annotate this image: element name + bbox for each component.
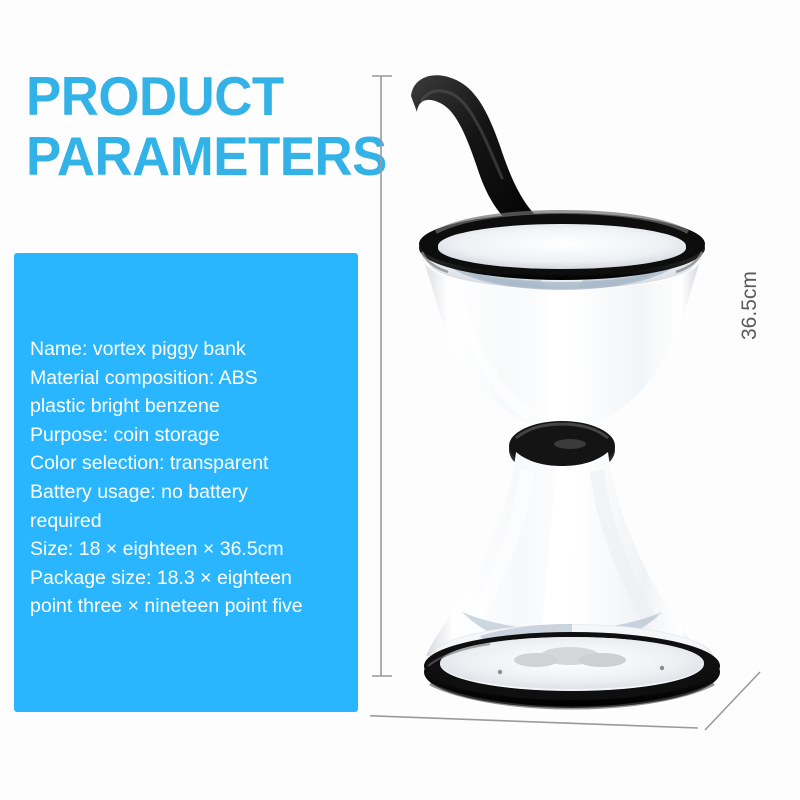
page-title-line-2: PARAMETERS: [26, 126, 352, 186]
top-rim: [419, 212, 705, 280]
product-parameters-page: PRODUCT PARAMETERS Name: vortex piggy ba…: [0, 0, 800, 800]
product-image: 36.5cm 18cm 18cm: [370, 0, 800, 800]
spec-line: Battery usage: no battery: [30, 478, 352, 507]
spec-panel: Name: vortex piggy bank Material composi…: [14, 253, 358, 712]
spec-line: Name: vortex piggy bank: [30, 335, 352, 364]
spec-line: plastic bright benzene: [30, 392, 352, 421]
spec-line: Package size: 18.3 × eighteen: [30, 564, 352, 593]
spec-line: Color selection: transparent: [30, 449, 352, 478]
spec-list: Name: vortex piggy bank Material composi…: [30, 335, 352, 621]
spec-line: required: [30, 507, 352, 536]
page-title: PRODUCT PARAMETERS: [26, 66, 366, 186]
spec-line: Purpose: coin storage: [30, 421, 352, 450]
spec-line: Size: 18 × eighteen × 36.5cm: [30, 535, 352, 564]
vortex-piggy-bank-illustration: [370, 0, 800, 800]
dimension-height-label: 36.5cm: [738, 271, 762, 340]
spec-line: Material composition: ABS: [30, 364, 352, 393]
page-title-line-1: PRODUCT: [26, 66, 352, 126]
base-plate: [424, 624, 720, 708]
spec-line: point three × nineteen point five: [30, 592, 352, 621]
